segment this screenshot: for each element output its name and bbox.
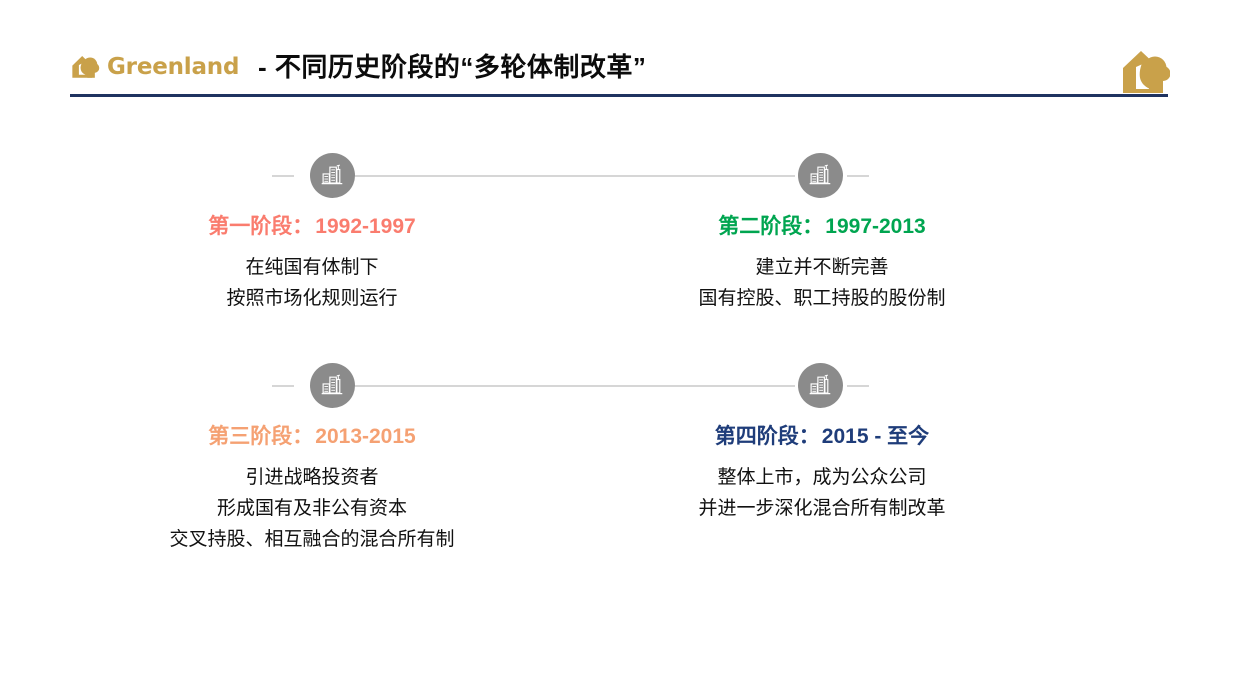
stage-range-4: 2015 - 至今 (822, 425, 929, 448)
stage-label-2: 第二阶段： (718, 215, 823, 238)
timeline-row-1 (0, 153, 1233, 199)
timeline-node-4[interactable] (798, 363, 843, 408)
timeline-node-2[interactable] (798, 153, 843, 198)
stage-label-4: 第四阶段： (715, 425, 820, 448)
stage-heading-4: 第四阶段：2015 - 至今 (562, 423, 1082, 451)
timeline-rail-left-stub (272, 385, 294, 387)
timeline-rail-right-stub (847, 175, 869, 177)
timeline-node-3[interactable] (310, 363, 355, 408)
stage-heading-1: 第一阶段：1992-1997 (52, 213, 572, 241)
stage-body-1: 在纯国有体制下 按照市场化规则运行 (52, 252, 572, 314)
stage-body-line: 形成国有及非公有资本 (52, 493, 572, 524)
stage-card-2: 第二阶段：1997-2013 建立并不断完善 国有控股、职工持股的股份制 (562, 213, 1082, 314)
stage-body-2: 建立并不断完善 国有控股、职工持股的股份制 (562, 252, 1082, 314)
timeline-rail-middle (355, 175, 795, 177)
stage-body-line: 整体上市，成为公众公司 (562, 462, 1082, 493)
header-divider (70, 94, 1168, 97)
stage-card-3: 第三阶段：2013-2015 引进战略投资者 形成国有及非公有资本 交叉持股、相… (52, 423, 572, 555)
city-buildings-icon (320, 373, 345, 398)
stage-range-3: 2013-2015 (315, 425, 415, 448)
stage-body-line: 交叉持股、相互融合的混合所有制 (52, 524, 572, 555)
stage-card-1: 第一阶段：1992-1997 在纯国有体制下 按照市场化规则运行 (52, 213, 572, 314)
city-buildings-icon (808, 163, 833, 188)
stage-body-line: 并进一步深化混合所有制改革 (562, 493, 1082, 524)
stage-body-line: 国有控股、职工持股的股份制 (562, 283, 1082, 314)
stage-label-1: 第一阶段： (208, 215, 313, 238)
stage-range-2: 1997-2013 (825, 215, 925, 238)
timeline-row-2 (0, 363, 1233, 409)
greenland-brand-logo: Greenland (70, 52, 239, 82)
timeline-rail-middle (355, 385, 795, 387)
slide-header: Greenland - 不同历史阶段的“多轮体制改革” (0, 0, 1233, 100)
stage-body-line: 建立并不断完善 (562, 252, 1082, 283)
timeline-node-1[interactable] (310, 153, 355, 198)
city-buildings-icon (808, 373, 833, 398)
house-tree-icon (1120, 48, 1170, 96)
stage-range-1: 1992-1997 (315, 215, 415, 238)
stage-heading-3: 第三阶段：2013-2015 (52, 423, 572, 451)
timeline-rail-left-stub (272, 175, 294, 177)
greenland-house-leaf-icon (70, 52, 100, 82)
stage-heading-2: 第二阶段：1997-2013 (562, 213, 1082, 241)
stage-body-line: 按照市场化规则运行 (52, 283, 572, 314)
stage-body-line: 引进战略投资者 (52, 462, 572, 493)
slide-canvas: Greenland - 不同历史阶段的“多轮体制改革” (0, 0, 1233, 685)
brand-wordmark: Greenland (107, 56, 239, 79)
stage-body-3: 引进战略投资者 形成国有及非公有资本 交叉持股、相互融合的混合所有制 (52, 462, 572, 555)
city-buildings-icon (320, 163, 345, 188)
page-title: - 不同历史阶段的“多轮体制改革” (258, 50, 646, 84)
stage-card-4: 第四阶段：2015 - 至今 整体上市，成为公众公司 并进一步深化混合所有制改革 (562, 423, 1082, 524)
stage-body-4: 整体上市，成为公众公司 并进一步深化混合所有制改革 (562, 462, 1082, 524)
stage-label-3: 第三阶段： (208, 425, 313, 448)
stage-body-line: 在纯国有体制下 (52, 252, 572, 283)
timeline-rail-right-stub (847, 385, 869, 387)
